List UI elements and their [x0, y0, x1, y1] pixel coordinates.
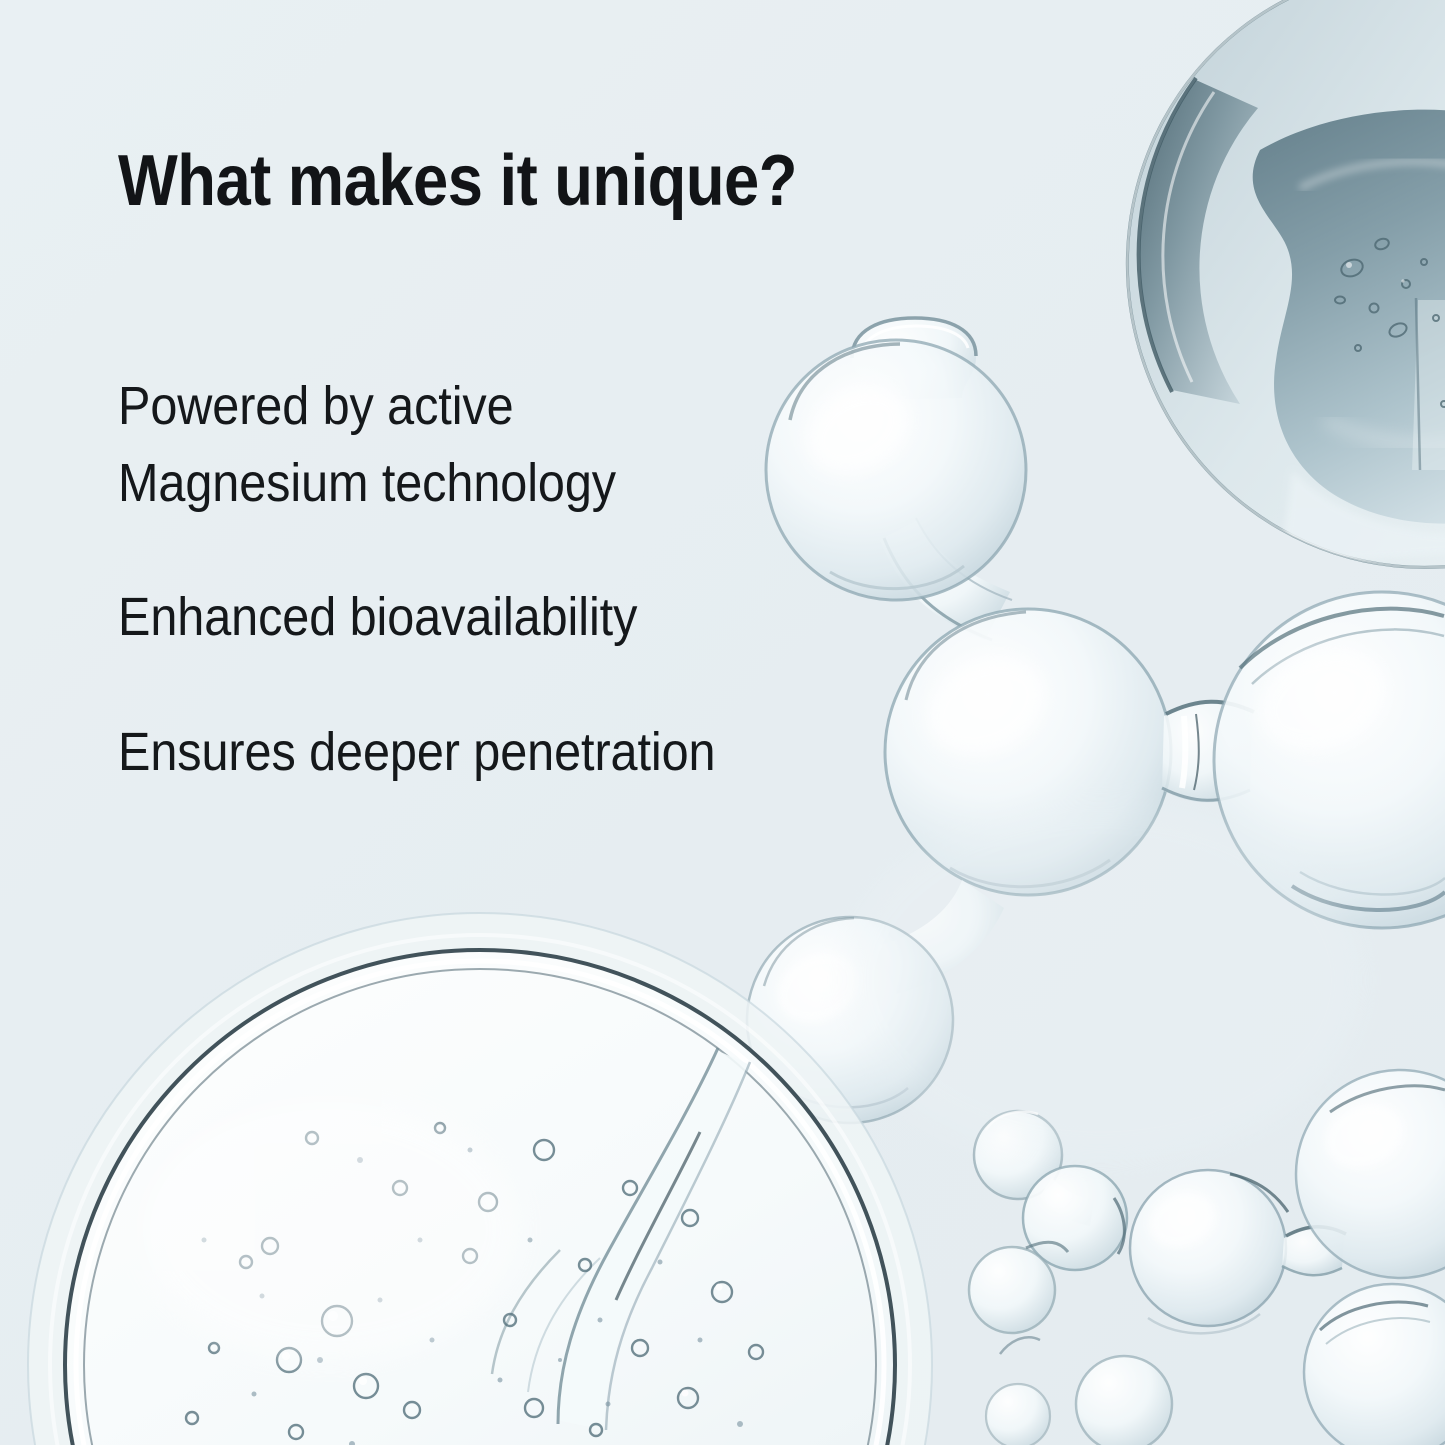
benefit-item-magnesium: Powered by active Magnesium technology	[118, 368, 910, 521]
benefit-list: Powered by active Magnesium technology E…	[118, 368, 998, 791]
page-title: What makes it unique?	[118, 143, 797, 219]
petri-dish-top-right	[1057, 0, 1445, 637]
promo-card: What makes it unique? Powered by active …	[0, 0, 1445, 1445]
copy-block: What makes it unique? Powered by active …	[0, 0, 1010, 1445]
benefit-item-penetration: Ensures deeper penetration	[118, 714, 910, 791]
benefit-item-bioavailability: Enhanced bioavailability	[118, 579, 910, 656]
glass-bubble-cluster-small	[969, 1070, 1445, 1445]
